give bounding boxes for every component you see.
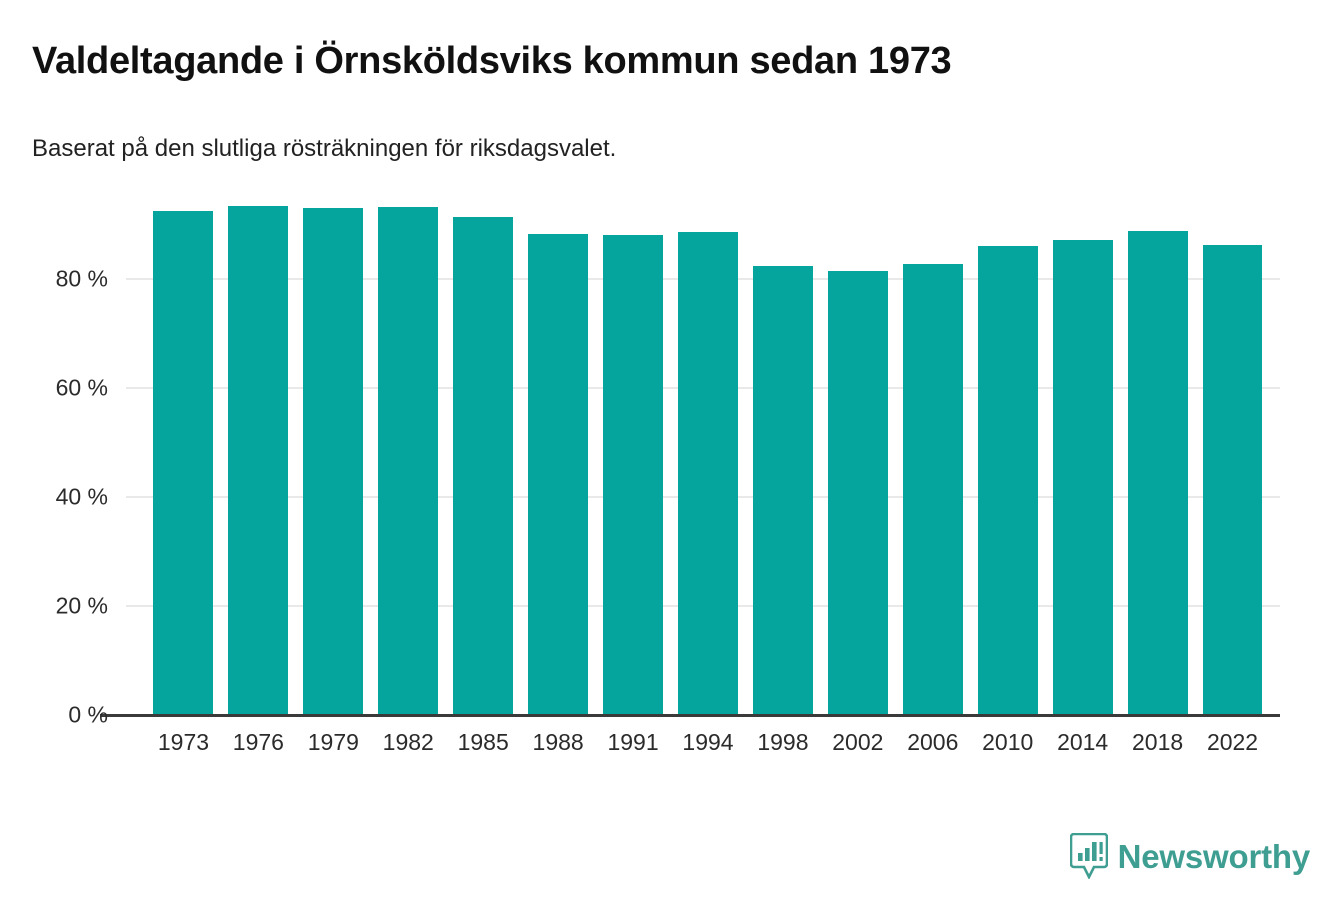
bar-series <box>0 0 1340 790</box>
brand-name: Newsworthy <box>1118 840 1310 873</box>
x-axis-line <box>100 714 1280 717</box>
x-axis-tick-label: 1985 <box>446 729 521 756</box>
bar-1976[interactable] <box>228 206 288 715</box>
x-axis-tick-label: 1979 <box>296 729 371 756</box>
x-axis-tick-label: 1991 <box>596 729 671 756</box>
x-axis-tick-label: 2006 <box>895 729 970 756</box>
x-axis-tick-label: 1976 <box>221 729 296 756</box>
bar-2018[interactable] <box>1128 231 1188 716</box>
x-axis-tick-label: 1998 <box>745 729 820 756</box>
bar-1973[interactable] <box>153 211 213 715</box>
x-axis-tick-label: 2010 <box>970 729 1045 756</box>
x-axis-tick-label: 1982 <box>371 729 446 756</box>
x-axis-tick-label: 2022 <box>1195 729 1270 756</box>
bar-1988[interactable] <box>528 234 588 715</box>
chart-page: Valdeltagande i Örnsköldsviks kommun sed… <box>0 0 1340 913</box>
x-axis-tick-label: 1973 <box>146 729 221 756</box>
chart-plot: 0 %20 %40 %60 %80 % 19731976197919821985… <box>0 0 1340 790</box>
bar-1985[interactable] <box>453 217 513 715</box>
bar-2006[interactable] <box>903 264 963 715</box>
x-axis-tick-label: 2018 <box>1120 729 1195 756</box>
bar-1982[interactable] <box>378 207 438 715</box>
x-axis-tick-label: 1988 <box>521 729 596 756</box>
bar-2014[interactable] <box>1053 240 1113 715</box>
bar-2002[interactable] <box>828 271 888 715</box>
newsworthy-logo: Newsworthy <box>1070 833 1310 879</box>
bar-1994[interactable] <box>678 232 738 715</box>
y-axis-tick-label: 40 % <box>0 484 108 511</box>
bar-chart-bubble-icon <box>1070 833 1108 879</box>
y-axis-tick-label: 20 % <box>0 593 108 620</box>
bar-1991[interactable] <box>603 235 663 715</box>
bar-2022[interactable] <box>1203 245 1263 715</box>
bar-1979[interactable] <box>303 208 363 715</box>
bar-2010[interactable] <box>978 246 1038 715</box>
bar-1998[interactable] <box>753 266 813 715</box>
y-axis-tick-label: 60 % <box>0 375 108 402</box>
y-axis-tick-label: 0 % <box>0 702 108 729</box>
x-axis-tick-label: 1994 <box>671 729 746 756</box>
x-axis-tick-label: 2014 <box>1045 729 1120 756</box>
y-axis-tick-label: 80 % <box>0 266 108 293</box>
x-axis-tick-label: 2002 <box>820 729 895 756</box>
